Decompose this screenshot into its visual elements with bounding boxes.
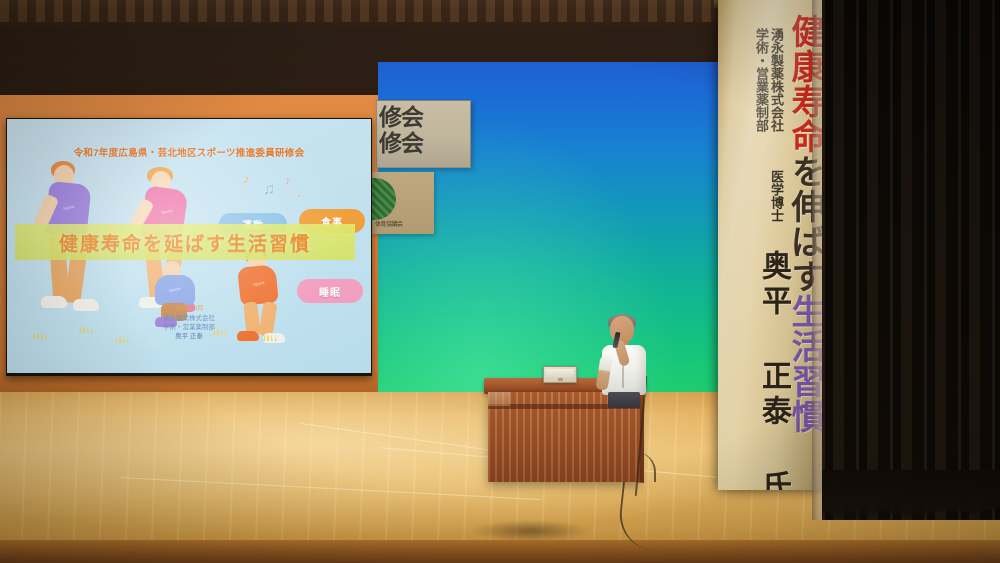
slide-credit-department: 学術・営業薬制部 <box>7 323 371 332</box>
slide-credit-block: 2025年8月 湧永製薬株式会社 学術・営業薬制部 奥平 正泰 <box>7 305 371 341</box>
banner-speaker-name: 奥平 正泰 氏 <box>758 250 788 490</box>
music-note-icon: ♩ <box>297 189 307 200</box>
slide-credit-presenter: 奥平 正泰 <box>7 332 371 341</box>
laptop-on-lectern <box>543 366 577 383</box>
projected-slide: 令和7年度広島県・芸北地区スポーツ推進委員研修会 Sports Sports <box>7 119 371 373</box>
lectern-left-notch <box>488 392 510 406</box>
slide-title-text: 健康寿命を延ばす生活習慣 <box>15 227 355 257</box>
music-note-icon: ♫ <box>263 181 275 199</box>
slide-credit-date: 2025年8月 <box>7 305 371 314</box>
presenter-figure <box>594 316 656 406</box>
music-note-icon: ♪ <box>243 171 250 186</box>
event-banner: 健康寿命を伸ばす生活習慣 湧永製薬株式会社 学術・営業薬制部 医学博士 奥平 正… <box>718 0 826 490</box>
banner-department: 学術・営業薬制部 <box>754 28 767 132</box>
organization-logo-sign: 体育協議会 <box>372 172 434 234</box>
house-sign-board: 修会 修会 <box>376 100 471 168</box>
slide-credit-company: 湧永製薬株式会社 <box>7 314 371 323</box>
laptop-screen <box>546 369 574 377</box>
house-sign-line2: 修会 <box>379 131 423 155</box>
stage-curtain <box>822 0 1000 520</box>
music-note-icon: ♪ <box>285 175 291 187</box>
presenter-trousers <box>608 392 640 408</box>
stage-photo: 修会 修会 体育協議会 令和7年度広島県・芸北地区スポーツ推進委員研修会 Spo… <box>0 0 1000 563</box>
projection-screen: 令和7年度広島県・芸北地区スポーツ推進委員研修会 Sports Sports <box>6 118 372 376</box>
house-sign-line1: 修会 <box>379 105 423 129</box>
banner-organization: 湧永製薬株式会社 <box>769 28 782 132</box>
floor-scuff-mark <box>470 520 590 542</box>
slide-header-text: 令和7年度広島県・芸北地区スポーツ推進委員研修会 <box>7 145 371 159</box>
stage-front-edge <box>0 540 1000 563</box>
organization-logo-caption: 体育協議会 <box>375 219 403 228</box>
laptop-hinge <box>558 378 563 381</box>
organization-logo-icon <box>372 178 396 220</box>
slide-pill-sleep: 睡眠 <box>297 279 363 303</box>
banner-degree: 医学博士 <box>769 170 782 222</box>
